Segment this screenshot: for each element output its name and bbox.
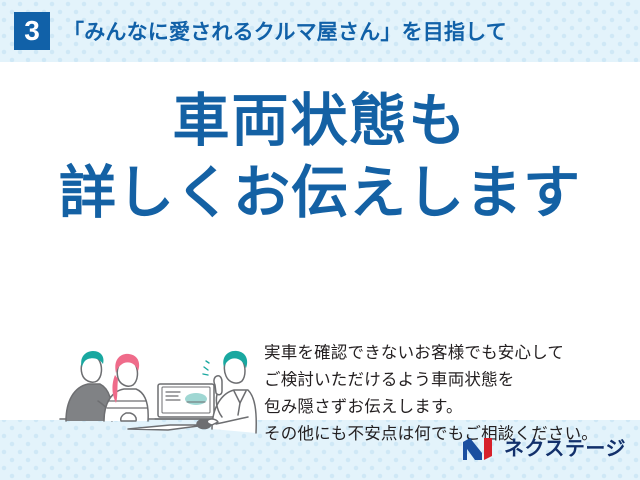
brand-logo: ネクステージ (462, 436, 626, 462)
header-title: 「みんなに愛されるクルマ屋さん」を目指して (63, 16, 507, 46)
content-panel: 車両状態も 詳しくお伝えします (0, 62, 640, 420)
brand-name: ネクステージ (504, 439, 626, 459)
lower-section: 実車を確認できないお客様でも安心して ご検討いただけるよう車両状態を 包み隠さず… (0, 274, 640, 420)
step-number-badge: 3 (14, 12, 50, 50)
footer-bar: ネクステージ (0, 420, 640, 480)
headline-line-2: 詳しくお伝えします (0, 164, 640, 224)
advertisement-banner: 3 「みんなに愛されるクルマ屋さん」を目指して 車両状態も 詳しくお伝えします (0, 0, 640, 480)
header-bar: 3 「みんなに愛されるクルマ屋さん」を目指して (0, 0, 640, 62)
body-copy-line-1: 実車を確認できないお客様でも安心して (264, 340, 630, 367)
headline-block: 車両状態も 詳しくお伝えします (0, 92, 640, 224)
body-copy-line-3: 包み隠さずお伝えします。 (264, 394, 630, 421)
nextage-n-mark-icon (462, 436, 496, 462)
body-copy-line-2: ご検討いただけるよう車両状態を (264, 367, 630, 394)
headline-line-1: 車両状態も (0, 92, 640, 152)
